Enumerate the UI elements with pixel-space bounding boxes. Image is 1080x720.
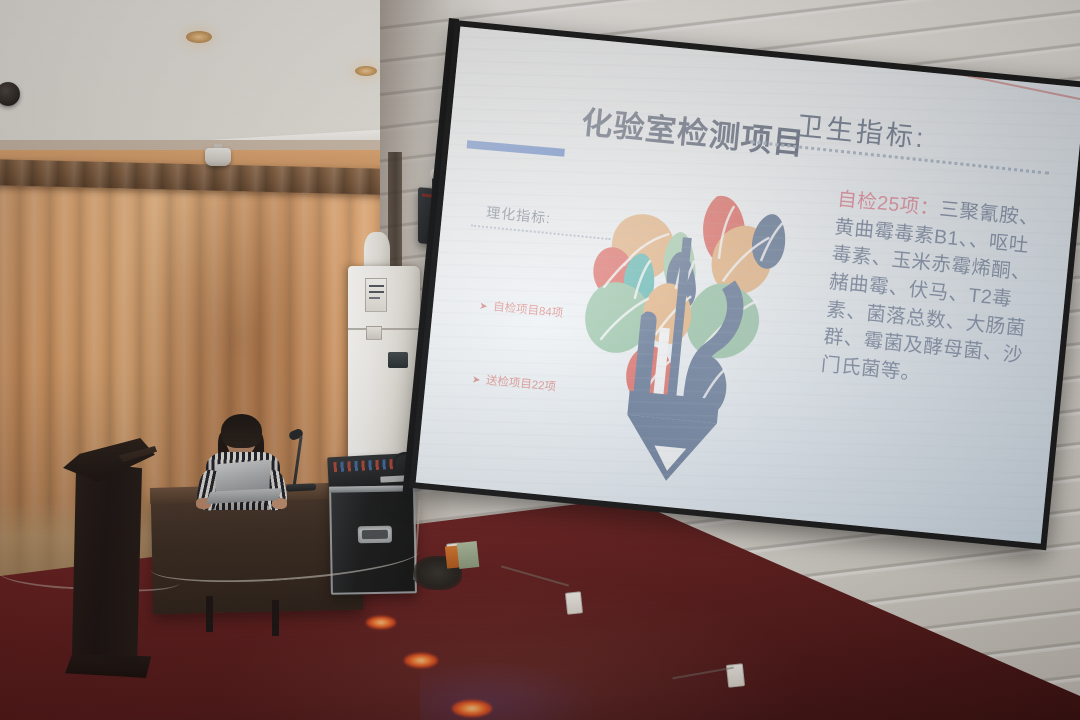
downlight-icon-1 [186,31,212,43]
green-equipment-box [457,541,480,569]
ceiling-speaker-icon [205,148,231,166]
slide-right-body: 三聚氰胺、黄曲霉毒素B1、、呕吐毒素、玉米赤霉烯酮、赭曲霉、伏马、T2毒素、菌落… [820,198,1040,385]
bullet-text-1: 自检项目84项 [493,301,564,320]
ac-seam [348,328,420,330]
podium-body [72,460,142,666]
mixer-knobs [333,459,393,472]
projection-screen: 化验室检测项目 卫生指标: 理化指标: ➤ 自检项目84项 ➤ 送检项目22项 … [416,27,1080,544]
floor-blue-glow [420,662,600,720]
floor-light-reflection-2 [404,653,438,668]
photo-scene: 化验室检测项目 卫生指标: 理化指标: ➤ 自检项目84项 ➤ 送检项目22项 … [0,0,1080,720]
slide-right-paragraph: 自检25项：三聚氰胺、黄曲霉毒素B1、、呕吐毒素、玉米赤霉烯酮、赭曲霉、伏马、T… [820,186,1048,399]
bullet-text-2: 送检项目22项 [485,375,556,394]
desk-leg-left [206,596,213,632]
floor-light-reflection-1 [366,616,396,629]
slide-right-highlight: 自检25项： [836,188,940,220]
wall-notice-sign [365,278,387,312]
ac-display-panel [388,352,408,368]
wall-recess [388,152,402,272]
sign-line-2 [369,291,384,293]
bullet-arrow-icon-1: ➤ [478,300,488,315]
floor-light-reflection-3 [452,700,492,717]
projection-screen-frame: 化验室检测项目 卫生指标: 理化指标: ➤ 自检项目84项 ➤ 送检项目22项 … [409,20,1080,550]
wall-outlet-1 [565,591,583,615]
presenter-hair [221,414,262,448]
sign-line-3 [369,297,380,299]
lectern-podium [63,424,155,674]
desk-leg-right [272,600,279,636]
slide-blue-accent-bar [467,140,565,157]
downlight-icon-2 [355,66,377,76]
pencil-tree-logo [563,150,804,499]
sign-line-1 [369,285,384,287]
bullet-arrow-icon-2: ➤ [471,373,481,388]
wall-socket-box [366,326,382,340]
slide-section-heading-left: 理化指标: [485,202,552,228]
